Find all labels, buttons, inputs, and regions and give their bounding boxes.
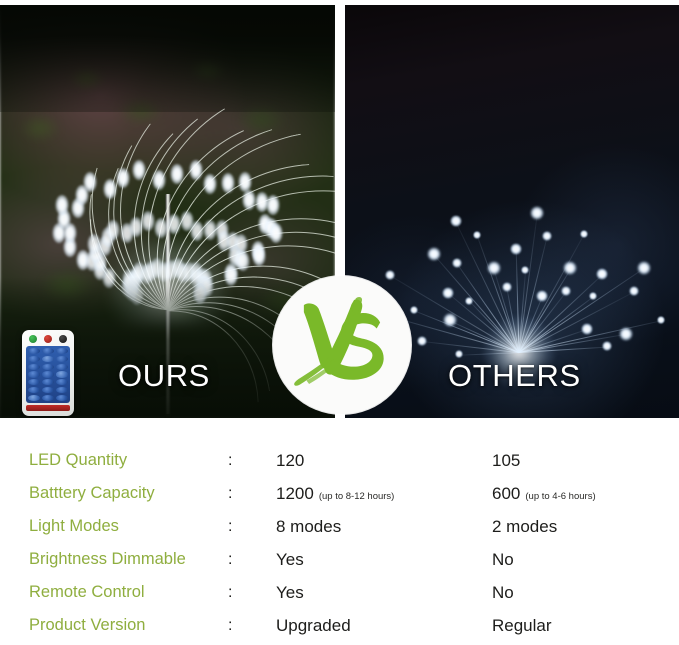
- spec-value-others: Regular: [492, 616, 552, 636]
- garden-top-shadow: [0, 4, 335, 112]
- spec-value-ours: Upgraded: [276, 616, 351, 636]
- spec-value-ours-note: (up to 8-12 hours): [319, 491, 395, 502]
- remote-key: [56, 364, 68, 370]
- remote-key: [28, 371, 40, 377]
- remote-key: [56, 395, 68, 401]
- led-bulb: [116, 168, 129, 188]
- remote-key: [28, 356, 40, 362]
- led-bulb: [221, 173, 234, 193]
- bottom-white-strip: [0, 418, 679, 430]
- spec-separator: :: [228, 518, 232, 536]
- remote-label-strip: [26, 405, 70, 411]
- remote-key: [28, 364, 40, 370]
- spec-feature-label: Product Version: [29, 616, 145, 635]
- led-tip: [542, 231, 552, 241]
- remote-key: [28, 379, 40, 385]
- spec-feature-label: LED Quantity: [29, 451, 127, 470]
- spec-row: Remote Control:YesNo: [0, 576, 679, 609]
- spec-feature-label: Brightness Dimmable: [29, 550, 186, 569]
- remote-key: [56, 348, 68, 354]
- led-tip: [502, 282, 512, 292]
- spec-value-others-main: No: [492, 550, 514, 570]
- led-tip: [580, 230, 588, 238]
- led-tip: [473, 231, 481, 239]
- led-bulb: [55, 195, 68, 215]
- remote-power-on-button: [29, 335, 37, 343]
- led-bulb: [239, 172, 252, 192]
- spec-value-ours: 120: [276, 451, 304, 471]
- remote-key: [56, 356, 68, 362]
- spec-comparison-table: LED Quantity:120105Batttery Capacity:120…: [0, 430, 679, 645]
- spec-separator: :: [228, 551, 232, 569]
- led-tip: [410, 306, 418, 314]
- remote-key: [56, 371, 68, 377]
- remote-control: [22, 330, 74, 416]
- remote-power-off-button: [44, 335, 52, 343]
- spec-value-others-main: 600: [492, 484, 520, 504]
- led-bulb: [236, 251, 249, 271]
- led-tip: [657, 316, 665, 324]
- spec-value-others: No: [492, 550, 514, 570]
- remote-key: [28, 387, 40, 393]
- spec-value-ours: 8 modes: [276, 517, 341, 537]
- top-white-strip: [0, 0, 679, 5]
- product-comparison-page: OURS OTHERS LED Quantity:1201: [0, 0, 679, 645]
- led-bulb: [155, 218, 168, 238]
- spec-value-ours-main: 8 modes: [276, 517, 341, 537]
- spec-separator: :: [228, 617, 232, 635]
- vs-badge: [273, 276, 411, 414]
- led-bulb: [267, 195, 280, 215]
- led-bulb: [190, 160, 203, 180]
- spec-feature-label: Remote Control: [29, 583, 145, 602]
- spec-separator: :: [228, 452, 232, 470]
- ours-label: OURS: [118, 358, 210, 394]
- led-bulb: [83, 172, 96, 192]
- remote-top-buttons: [26, 334, 70, 344]
- spec-value-others-main: 2 modes: [492, 517, 557, 537]
- spec-value-others-note: (up to 4-6 hours): [525, 491, 595, 502]
- spec-row: Light Modes:8 modes2 modes: [0, 510, 679, 543]
- remote-key: [42, 395, 54, 401]
- spec-value-ours-main: 1200: [276, 484, 314, 504]
- spec-value-ours-main: Upgraded: [276, 616, 351, 636]
- others-label: OTHERS: [448, 358, 581, 394]
- remote-mode-button: [59, 335, 67, 343]
- spec-value-others: 600(up to 4-6 hours): [492, 484, 596, 504]
- led-bulb: [132, 160, 145, 180]
- led-tip: [602, 342, 612, 352]
- remote-key: [28, 395, 40, 401]
- led-tip: [530, 206, 543, 219]
- led-tip: [596, 268, 607, 279]
- vs-brush-icon: [290, 293, 394, 397]
- spec-value-ours: Yes: [276, 550, 304, 570]
- led-tip: [510, 243, 521, 254]
- remote-key: [56, 387, 68, 393]
- led-tip: [452, 258, 462, 268]
- led-bulb: [141, 211, 154, 231]
- remote-key: [42, 387, 54, 393]
- led-bulb: [269, 223, 282, 243]
- spec-value-ours-main: Yes: [276, 550, 304, 570]
- spec-separator: :: [228, 485, 232, 503]
- led-tip: [450, 216, 461, 227]
- photo-comparison-hero: OURS OTHERS: [0, 0, 679, 420]
- remote-key: [28, 348, 40, 354]
- remote-key: [42, 379, 54, 385]
- remote-key: [42, 371, 54, 377]
- led-bulb: [204, 174, 217, 194]
- led-tip: [637, 261, 650, 274]
- led-tip: [629, 286, 639, 296]
- spec-value-ours: Yes: [276, 583, 304, 603]
- led-bulb: [152, 170, 165, 190]
- led-tip: [581, 323, 592, 334]
- spec-value-others: 105: [492, 451, 520, 471]
- spec-value-others-main: 105: [492, 451, 520, 471]
- spec-value-others: 2 modes: [492, 517, 557, 537]
- spec-row: Brightness Dimmable:YesNo: [0, 543, 679, 576]
- remote-key: [42, 356, 54, 362]
- led-tip: [385, 270, 395, 280]
- remote-key: [42, 364, 54, 370]
- spec-value-ours-main: 120: [276, 451, 304, 471]
- spec-separator: :: [228, 584, 232, 602]
- led-bulb: [170, 164, 183, 184]
- spec-row: Batttery Capacity:1200(up to 8-12 hours)…: [0, 477, 679, 510]
- led-bulb: [252, 246, 265, 266]
- spec-value-ours-main: Yes: [276, 583, 304, 603]
- spec-feature-label: Light Modes: [29, 517, 119, 536]
- spec-value-others-main: No: [492, 583, 514, 603]
- remote-keypad: [26, 346, 70, 403]
- spec-value-others-main: Regular: [492, 616, 552, 636]
- remote-key: [56, 379, 68, 385]
- spec-value-others: No: [492, 583, 514, 603]
- spec-row: LED Quantity:120105: [0, 444, 679, 477]
- spec-feature-label: Batttery Capacity: [29, 484, 155, 503]
- led-bulb: [167, 214, 180, 234]
- led-bulb: [103, 179, 116, 199]
- led-tip: [418, 336, 428, 346]
- spec-value-ours: 1200(up to 8-12 hours): [276, 484, 394, 504]
- led-bulb: [242, 190, 255, 210]
- spec-row: Product Version:UpgradedRegular: [0, 609, 679, 642]
- remote-key: [42, 348, 54, 354]
- led-tip: [561, 286, 571, 296]
- led-tip: [442, 287, 453, 298]
